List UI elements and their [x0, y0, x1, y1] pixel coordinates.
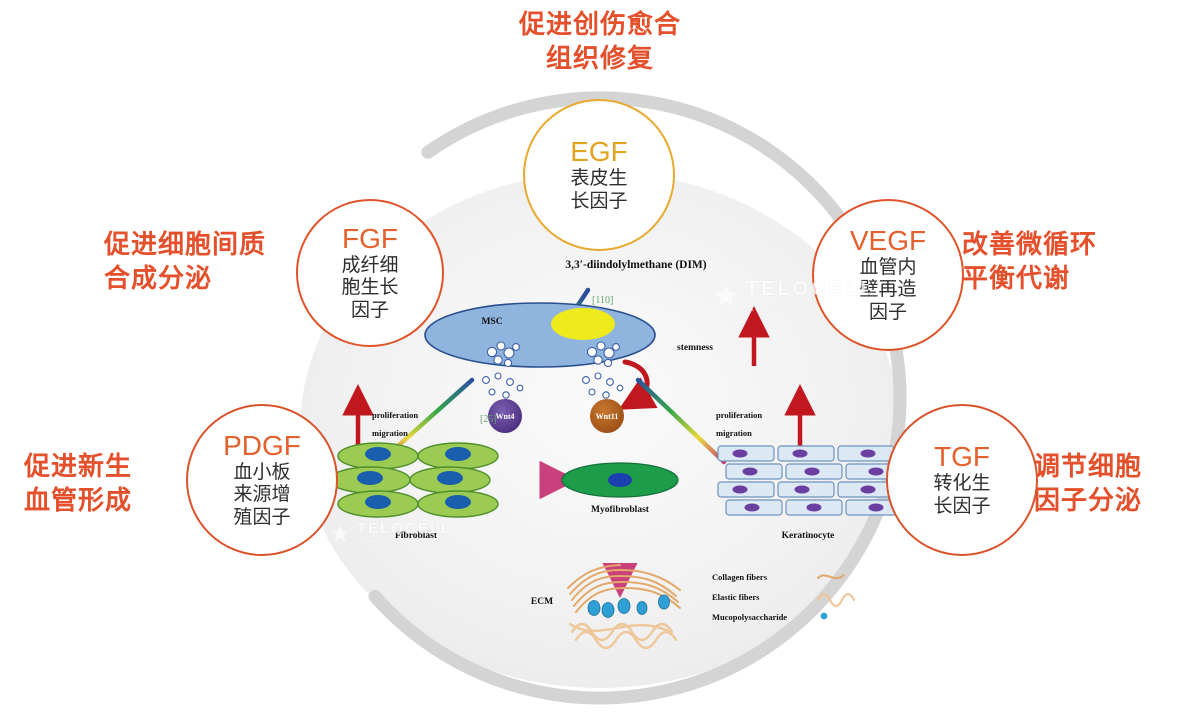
- caption-lower-left: 促进新生 血管形成: [24, 450, 204, 518]
- msc-label: MSC: [481, 317, 502, 327]
- factor-bubble-vegf[interactable]: VEGF 血管内 壁再造 因子: [812, 199, 964, 351]
- ecm-mucopolysaccharide: [588, 595, 670, 618]
- factor-name-tgf: 转化生 长因子: [933, 473, 990, 518]
- legend-marker-dot: [821, 613, 828, 620]
- factor-abbr-tgf: TGF: [934, 442, 990, 471]
- svg-text:Wnt4: Wnt4: [495, 412, 514, 421]
- factor-name-pdgf: 血小板 来源增 殖因子: [233, 462, 290, 529]
- legend-label-1: Elastic fibers: [712, 592, 760, 602]
- gradient-line-right: [638, 380, 724, 462]
- factor-bubble-egf[interactable]: EGF 表皮生 长因子: [523, 99, 675, 251]
- myofibroblast-group: [562, 463, 678, 497]
- factor-name-egf: 表皮生 长因子: [570, 168, 627, 213]
- factor-bubble-tgf[interactable]: TGF 转化生 长因子: [886, 404, 1038, 556]
- caption-top: 促进创伤愈合 组织修复: [0, 8, 1200, 76]
- factor-name-fgf: 成纤细 胞生长 因子: [341, 255, 398, 322]
- factor-abbr-egf: EGF: [570, 137, 628, 166]
- legend-marker-wavy: [818, 575, 844, 578]
- factor-abbr-vegf: VEGF: [850, 226, 926, 255]
- stemness-label: stemness: [677, 343, 713, 353]
- migration-label-right: migration: [716, 428, 752, 438]
- svg-text:Wnt11: Wnt11: [596, 412, 619, 421]
- legend-marker-zigzag: [818, 594, 854, 606]
- factor-name-vegf: 血管内 壁再造 因子: [859, 257, 916, 324]
- caption-upper-left: 促进细胞间质 合成分泌: [104, 228, 314, 296]
- factor-abbr-fgf: FGF: [342, 224, 398, 253]
- diagram-canvas: 3,3′-diindolylmethane (DIM) [110] MSC: [0, 0, 1200, 713]
- msc-nucleus: [551, 308, 615, 340]
- ecm-elastic: [570, 624, 676, 648]
- migration-label-left: migration: [372, 428, 408, 438]
- msc-cell: [425, 303, 655, 367]
- dim-label: 3,3′-diindolylmethane (DIM): [565, 259, 706, 271]
- legend-label-2: Mucopolysaccharide: [712, 612, 787, 622]
- figure-legend: Collagen fibers Elastic fibers Mucopolys…: [712, 572, 854, 622]
- myofibroblast-label: Myofibroblast: [591, 505, 650, 515]
- ecm-label: ECM: [531, 597, 553, 607]
- keratinocyte-label: Keratinocyte: [782, 531, 835, 541]
- factor-bubble-fgf[interactable]: FGF 成纤细 胞生长 因子: [296, 199, 444, 347]
- wnt11-blob: Wnt11: [590, 399, 624, 433]
- legend-label-0: Collagen fibers: [712, 572, 768, 582]
- ref-25: [25]: [480, 414, 497, 425]
- caption-upper-right: 改善微循环 平衡代谢: [962, 228, 1192, 296]
- ref-110: [110]: [592, 295, 613, 306]
- caption-lower-right: 调节细胞 因子分泌: [1034, 450, 1200, 518]
- fibroblast-group: [330, 443, 498, 517]
- proliferation-label-left: proliferation: [372, 410, 418, 420]
- factor-abbr-pdgf: PDGF: [223, 431, 301, 460]
- proliferation-label-right: proliferation: [716, 410, 762, 420]
- factor-bubble-pdgf[interactable]: PDGF 血小板 来源增 殖因子: [186, 404, 338, 556]
- fibroblast-label: Fibroblast: [395, 531, 438, 541]
